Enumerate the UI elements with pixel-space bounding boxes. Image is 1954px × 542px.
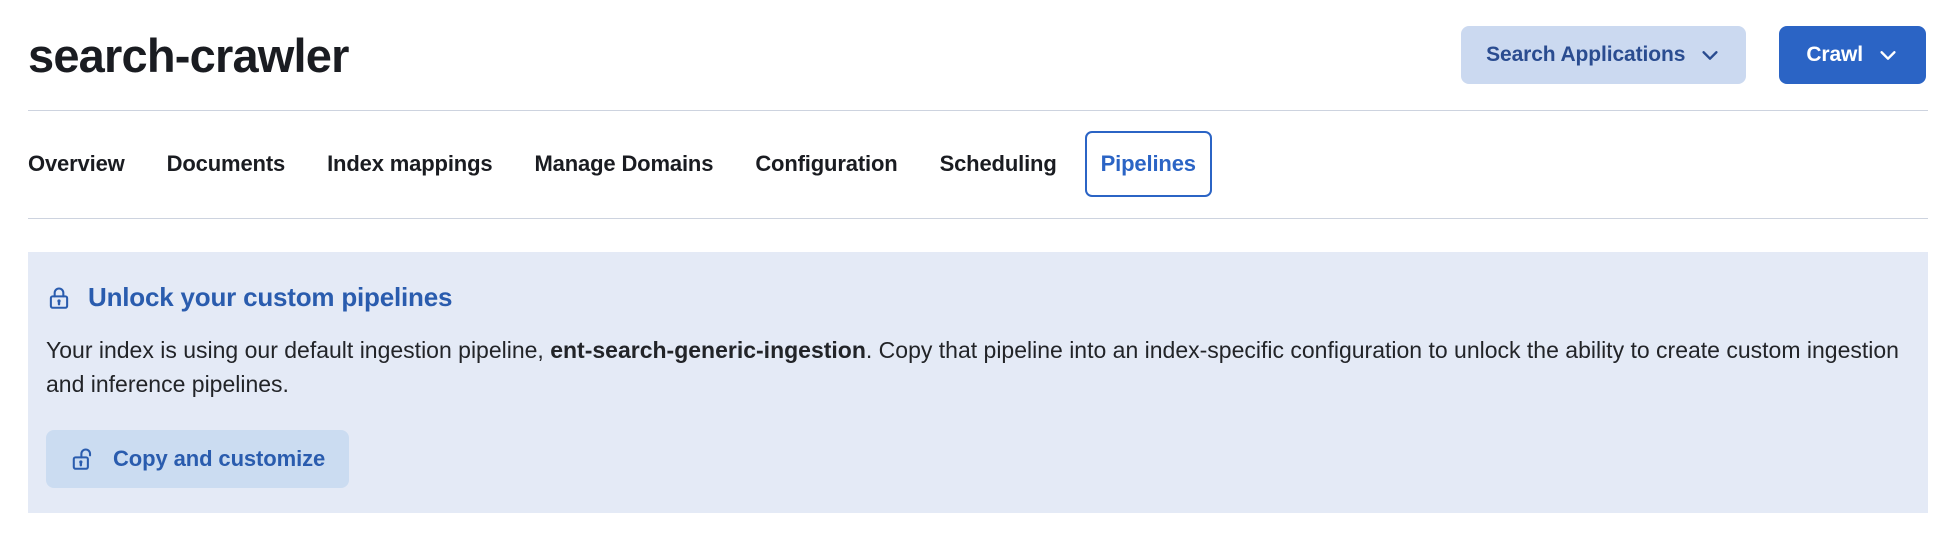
tab-index-mappings[interactable]: Index mappings <box>306 131 513 197</box>
app-page: search-crawler Search Applications Crawl… <box>0 0 1954 542</box>
page-header: search-crawler Search Applications Crawl <box>0 0 1954 110</box>
callout-body-part1: Your index is using our default ingestio… <box>46 337 550 363</box>
search-applications-button[interactable]: Search Applications <box>1461 26 1746 84</box>
tab-pipelines[interactable]: Pipelines <box>1085 131 1212 197</box>
callout-title: Unlock your custom pipelines <box>88 282 452 313</box>
header-actions: Search Applications Crawl <box>1461 26 1926 84</box>
lock-open-icon <box>70 446 96 472</box>
page-title: search-crawler <box>28 32 349 79</box>
lock-closed-icon <box>46 285 72 311</box>
tab-scheduling[interactable]: Scheduling <box>919 131 1078 197</box>
pipeline-name: ent-search-generic-ingestion <box>550 337 866 363</box>
tab-configuration[interactable]: Configuration <box>734 131 918 197</box>
tab-overview[interactable]: Overview <box>28 131 146 197</box>
callout-title-row: Unlock your custom pipelines <box>44 282 1906 313</box>
chevron-down-icon <box>1877 44 1899 66</box>
copy-and-customize-button[interactable]: Copy and customize <box>46 430 349 488</box>
copy-and-customize-label: Copy and customize <box>113 446 325 472</box>
search-applications-label: Search Applications <box>1486 43 1685 67</box>
tab-documents[interactable]: Documents <box>146 131 306 197</box>
tab-manage-domains[interactable]: Manage Domains <box>513 131 734 197</box>
unlock-pipelines-callout: Unlock your custom pipelines Your index … <box>28 252 1928 513</box>
crawl-label: Crawl <box>1806 43 1863 67</box>
chevron-down-icon <box>1699 44 1721 66</box>
tab-bar: Overview Documents Index mappings Manage… <box>0 110 1954 218</box>
tabs-divider <box>28 218 1928 219</box>
callout-body: Your index is using our default ingestio… <box>44 333 1906 401</box>
crawl-button[interactable]: Crawl <box>1779 26 1926 84</box>
